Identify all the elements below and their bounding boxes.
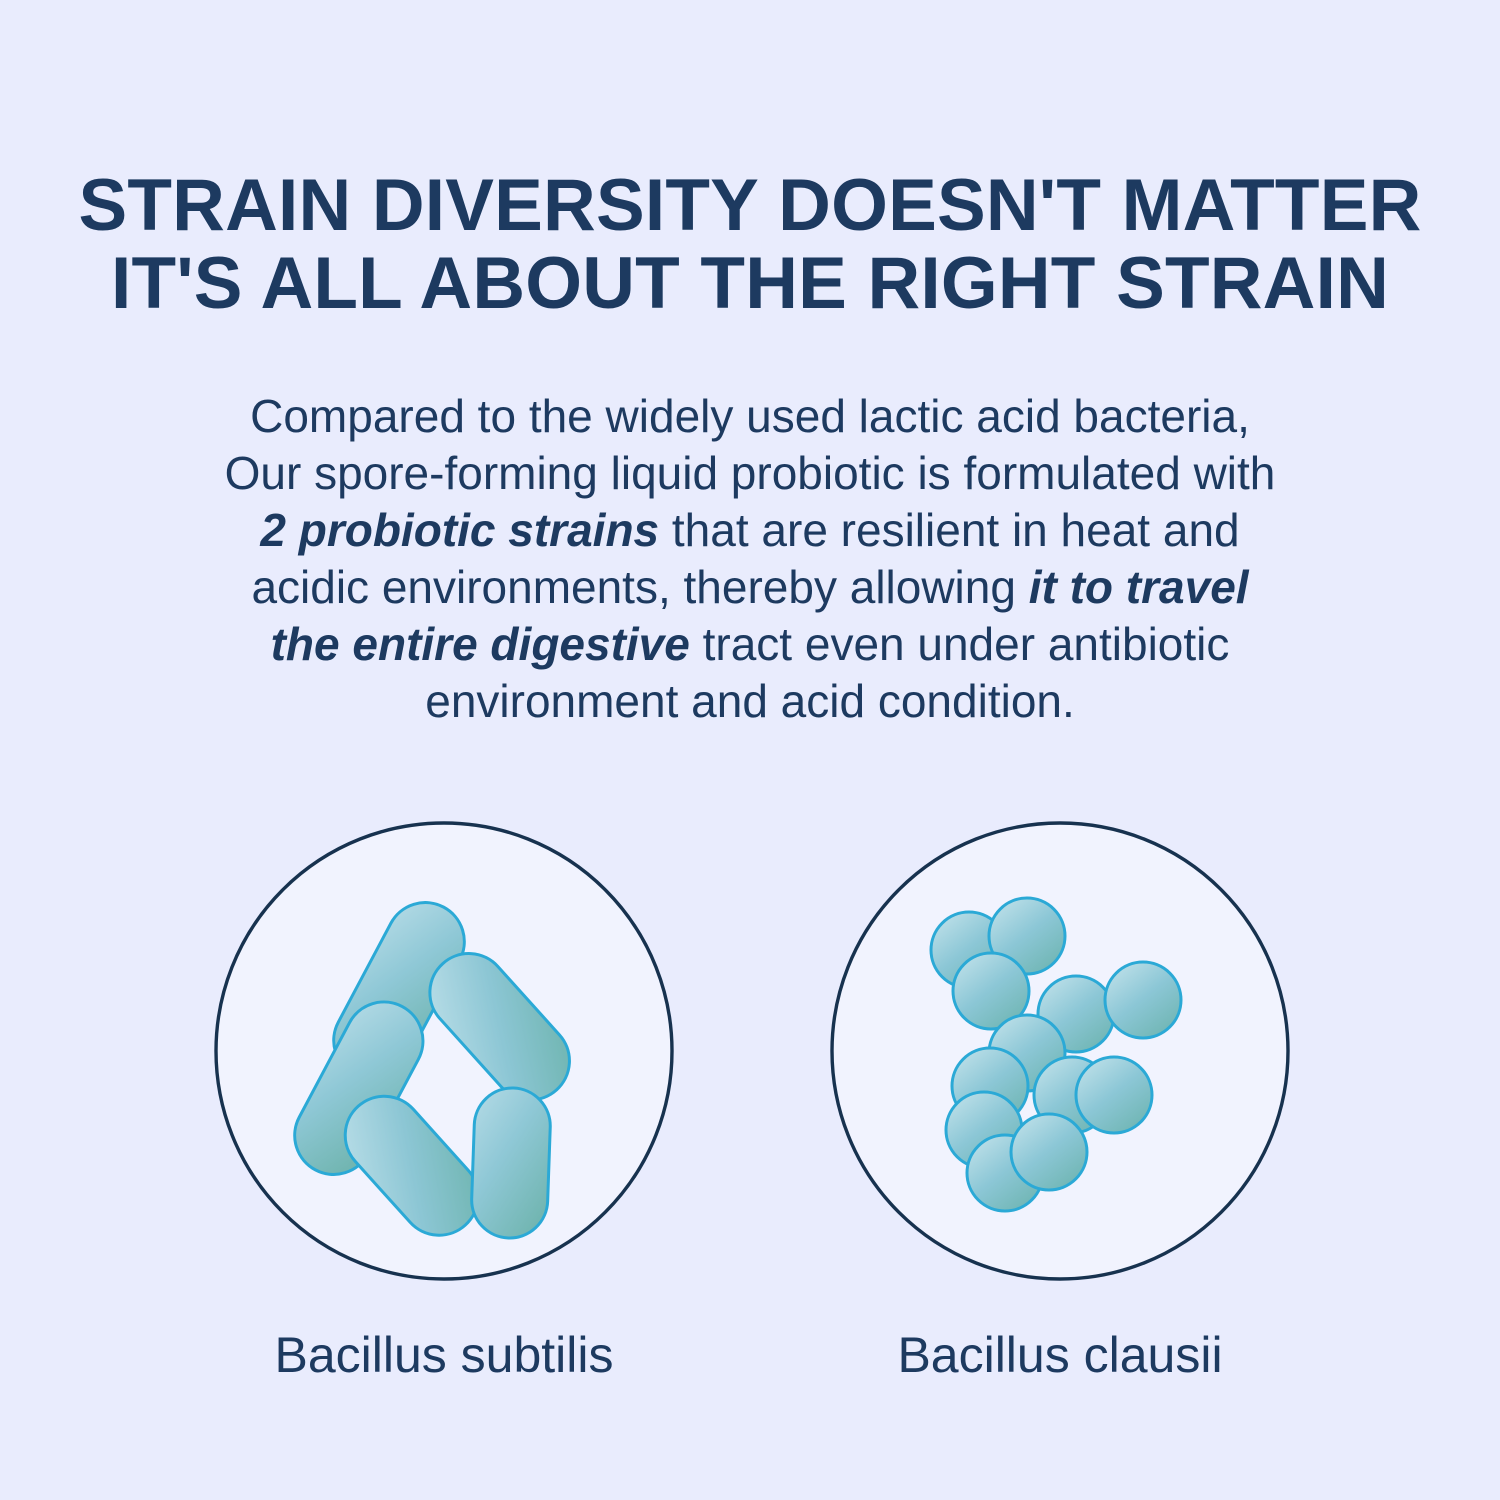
headline-line-2: IT'S ALL ABOUT THE RIGHT STRAIN [0,245,1500,323]
strain-card-bacillus-subtilis: Bacillus subtilis [209,818,679,1418]
body-text-part-1: Compared to the widely used lactic acid … [225,390,1276,499]
strain-gallery: Bacillus subtilis [0,818,1500,1418]
strain-illustration-bacillus-subtilis [211,818,677,1284]
strain-label-bacillus-subtilis: Bacillus subtilis [209,1326,679,1384]
strain-illustration-bacillus-clausii [827,818,1293,1284]
strain-label-bacillus-clausii: Bacillus clausii [825,1326,1295,1384]
headline-line-1: STRAIN DIVERSITY DOESN'T MATTER [0,167,1500,245]
rod-bacteria-icon [211,818,677,1284]
body-emphasis-1: 2 probiotic strains [260,504,659,556]
strain-card-bacillus-clausii: Bacillus clausii [825,818,1295,1418]
body-paragraph: Compared to the widely used lactic acid … [222,388,1278,730]
coccus-bacteria-icon [827,818,1293,1284]
poster-canvas: STRAIN DIVERSITY DOESN'T MATTER IT'S ALL… [0,0,1500,1500]
page-title: STRAIN DIVERSITY DOESN'T MATTER IT'S ALL… [0,167,1500,323]
